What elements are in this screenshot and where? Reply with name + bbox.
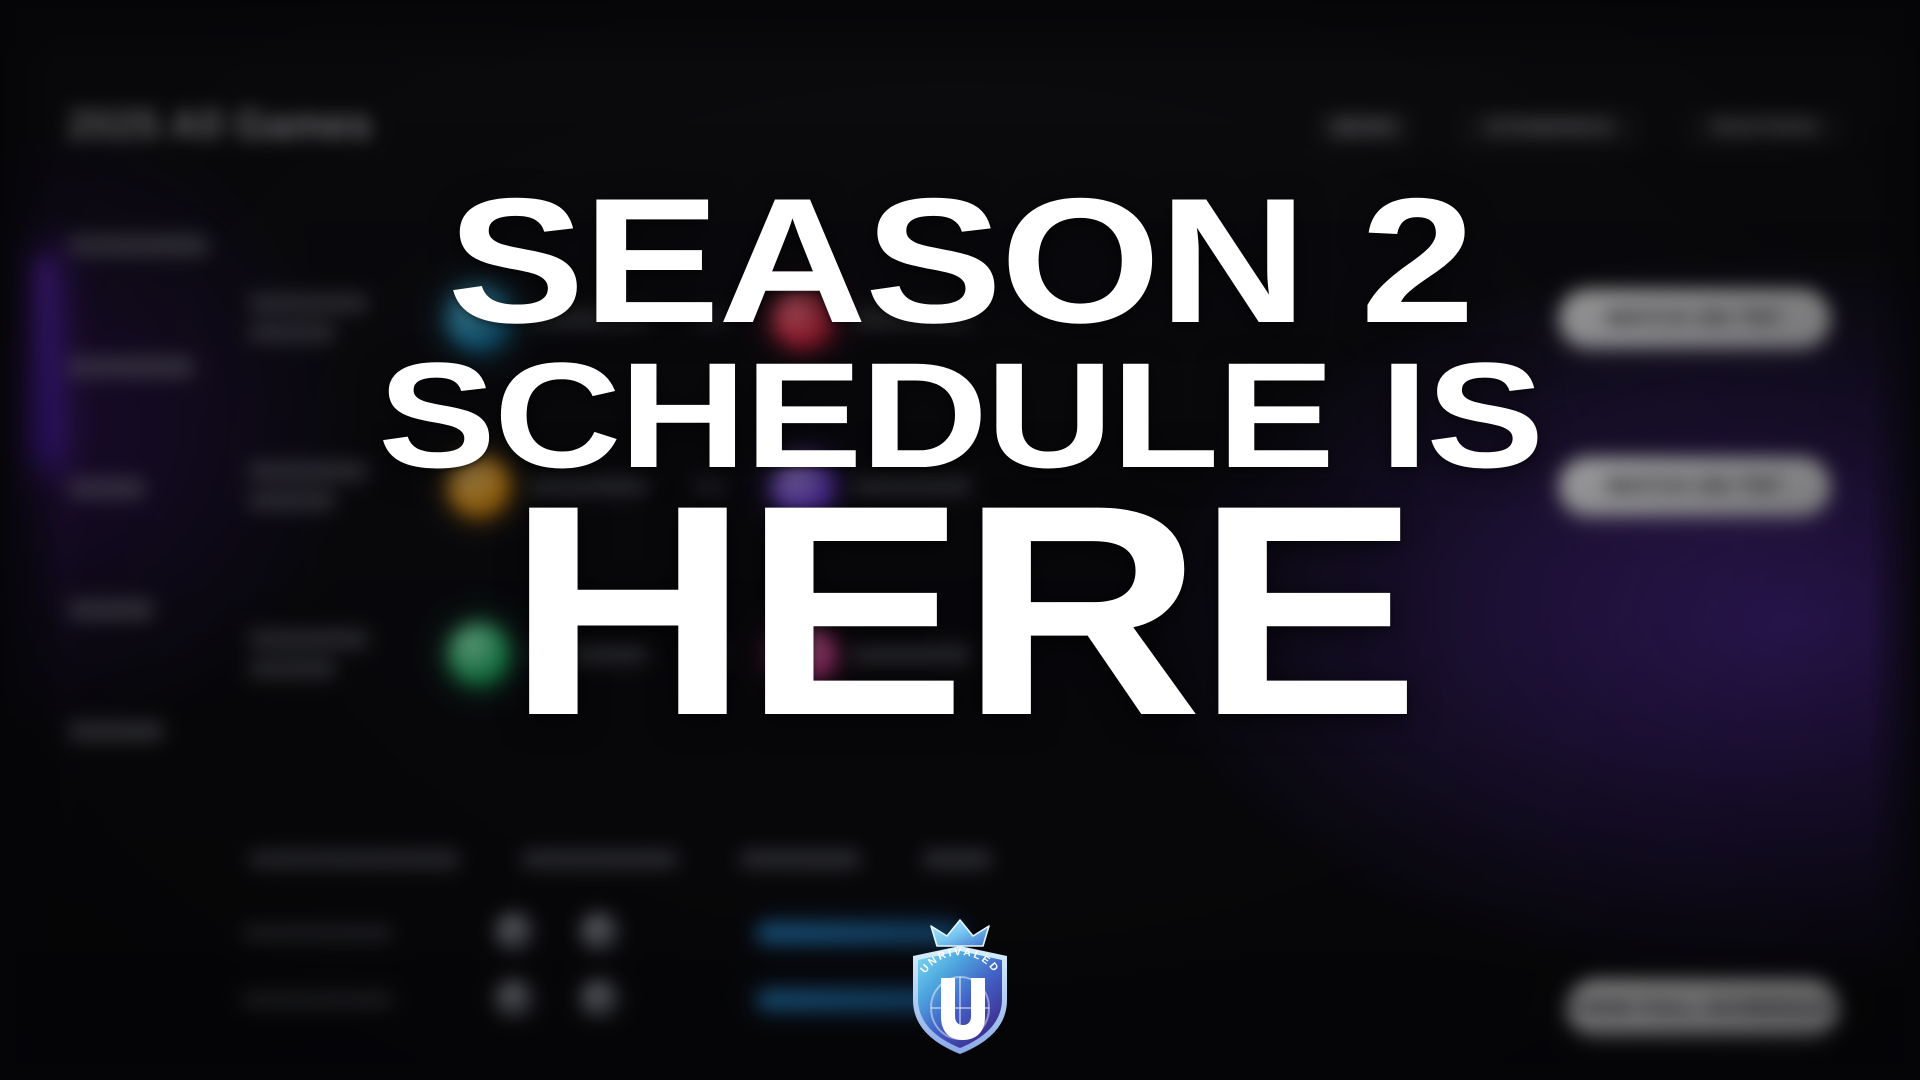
game-date-secondary <box>248 490 337 510</box>
team-name <box>853 477 972 495</box>
screenshot-root: 2025 All Games NEWS STANDINGS ROSTERS <box>0 0 1920 1080</box>
sidebar-item-stats[interactable] <box>67 593 219 627</box>
nav-item-news[interactable]: NEWS <box>1316 109 1414 147</box>
game-row[interactable] <box>241 570 1838 738</box>
game-date-primary <box>248 293 369 313</box>
game-date-cell <box>241 461 413 511</box>
versus-label <box>693 646 727 662</box>
column-header-tv <box>922 850 993 869</box>
row-teams-cell <box>494 979 757 1019</box>
team-logo-icon <box>494 979 534 1019</box>
page-title: 2025 All Games <box>67 103 372 149</box>
team-logo-icon <box>448 454 511 517</box>
unrivaled-shield-crown-icon: UNRIVALED <box>897 916 1023 1058</box>
app-topbar: 2025 All Games NEWS STANDINGS ROSTERS <box>0 87 1920 176</box>
team-away <box>772 286 972 349</box>
sidebar-item-label <box>67 720 164 742</box>
game-action-cell: WATCH ON TNT <box>1515 457 1839 516</box>
versus-label <box>693 310 727 326</box>
game-date-secondary <box>248 658 337 678</box>
team-logo-icon <box>494 912 534 952</box>
game-row[interactable]: WATCH ON TNT <box>241 234 1838 402</box>
view-full-schedule-button[interactable]: VIEW FULL SCHEDULE <box>1567 979 1838 1038</box>
team-away <box>772 454 972 517</box>
column-header-date <box>248 850 461 869</box>
game-date-primary <box>248 629 369 649</box>
column-header-matchup <box>521 850 679 869</box>
team-name <box>529 309 648 327</box>
game-date-cell <box>241 293 413 343</box>
sidebar-item-tickets[interactable] <box>67 714 219 748</box>
sidebar-item-teams[interactable] <box>67 471 219 505</box>
sidebar-item-label <box>67 477 146 499</box>
team-logo-icon <box>772 286 835 349</box>
game-matchup <box>414 622 1515 685</box>
top-navigation: NEWS STANDINGS ROSTERS <box>1316 109 1845 147</box>
versus-label <box>693 478 727 494</box>
table-row[interactable] <box>241 912 1838 952</box>
view-full-schedule-label: VIEW FULL SCHEDULE <box>1573 996 1832 1020</box>
team-logo-icon <box>579 979 619 1019</box>
game-row[interactable]: WATCH ON TNT <box>241 402 1838 570</box>
game-date-primary <box>248 461 369 481</box>
team-home <box>448 286 648 349</box>
row-date-value <box>241 991 393 1008</box>
team-home <box>448 454 648 517</box>
watch-button-label: WATCH ON TNT <box>1607 306 1783 330</box>
game-matchup <box>414 454 1515 517</box>
row-teams-cell <box>494 912 757 952</box>
row-date-cell <box>241 991 494 1008</box>
watch-button[interactable]: WATCH ON TNT <box>1559 289 1830 348</box>
unrivaled-logo: UNRIVALED <box>897 916 1023 1058</box>
sidebar-item-label <box>67 234 209 256</box>
sidebar-item-label <box>67 599 154 621</box>
team-logo-icon <box>448 622 511 685</box>
sidebar-item-label <box>67 356 195 378</box>
game-date-cell <box>241 629 413 679</box>
nav-item-rosters[interactable]: ROSTERS <box>1686 109 1844 147</box>
schedule-table-header <box>241 850 1838 886</box>
sidebar-item-results[interactable] <box>67 350 219 384</box>
team-logo-icon <box>448 286 511 349</box>
view-full-schedule-container: VIEW FULL SCHEDULE <box>1567 979 1838 1038</box>
game-date-secondary <box>248 322 337 342</box>
watch-button[interactable]: WATCH ON TNT <box>1559 457 1830 516</box>
sidebar-accent-bar <box>35 259 48 461</box>
game-action-cell: WATCH ON TNT <box>1515 289 1839 348</box>
main-content-panel: WATCH ON TNT <box>241 234 1838 1029</box>
sidebar-item-upcoming[interactable] <box>67 228 219 262</box>
team-home <box>448 622 648 685</box>
game-matchup <box>414 286 1515 349</box>
team-name <box>529 645 648 663</box>
team-name <box>529 477 648 495</box>
sidebar <box>67 228 219 835</box>
team-logo-icon <box>772 454 835 517</box>
team-logo-icon <box>579 912 619 952</box>
team-name <box>853 645 972 663</box>
row-date-cell <box>241 924 494 941</box>
team-logo-icon <box>772 622 835 685</box>
watch-button-label: WATCH ON TNT <box>1607 474 1783 498</box>
team-name <box>853 309 972 327</box>
nav-item-standings[interactable]: STANDINGS <box>1460 109 1640 147</box>
column-header-venue <box>739 850 860 869</box>
crown-icon <box>931 920 989 946</box>
row-date-value <box>241 924 393 941</box>
team-away <box>772 622 972 685</box>
